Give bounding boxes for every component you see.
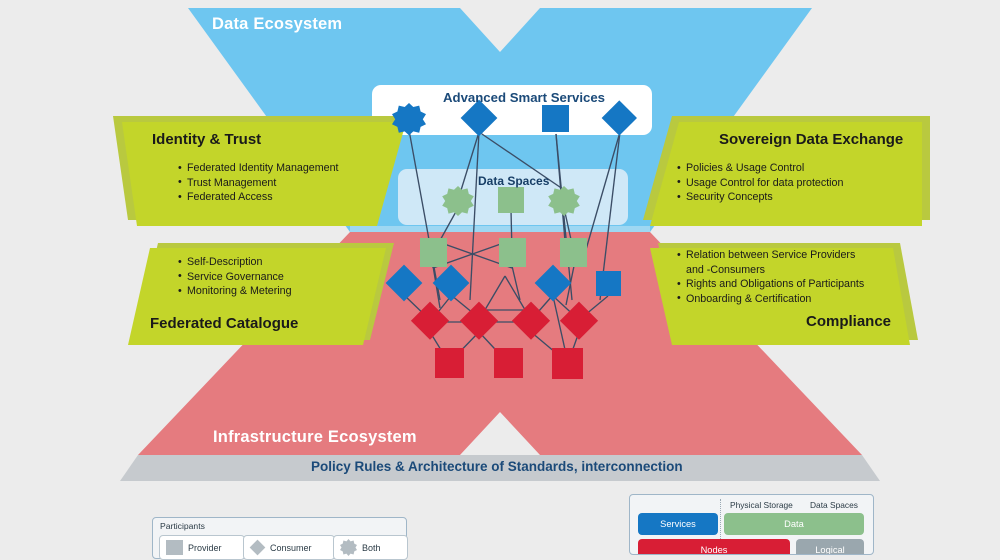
both-star-icon [340,539,357,556]
node-infra-diamond-2[interactable] [433,265,470,302]
panel-item: Trust Management [178,176,339,191]
panel-item: Service Governance [178,270,292,285]
legend-participants-caption: Participants [160,521,205,531]
panel-list-identity-trust: Federated Identity Management Trust Mana… [178,161,339,205]
panel-item: Federated Identity Management [178,161,339,176]
panel-item: Federated Access [178,190,339,205]
infrastructure-ecosystem-title: Infrastructure Ecosystem [213,428,417,447]
node-infra-diamond-1[interactable] [386,265,423,302]
legend-header-physical-storage: Physical Storage [730,500,793,510]
panel-title-sovereign-data-exchange: Sovereign Data Exchange [719,131,903,148]
legend-item-consumer[interactable]: Consumer [243,535,335,560]
network-edges [404,130,620,363]
node-service-diamond-2[interactable] [602,100,637,135]
panel-title-identity-trust: Identity & Trust [152,131,261,148]
panel-item: Monitoring & Metering [178,284,292,299]
legend-box-data[interactable]: Data [724,513,864,535]
panel-list-compliance: Relation between Service Providers and -… [677,248,864,306]
node-red-diamond-2[interactable] [460,302,498,340]
node-markers [386,100,637,379]
legend-item-both[interactable]: Both [333,535,408,560]
panel-item: Relation between Service Providers [677,248,864,263]
node-storage-square-3[interactable] [560,238,587,267]
legend-box-services[interactable]: Services [638,513,718,535]
gaia-x-architecture-diagram: Data Ecosystem Infrastructure Ecosystem … [0,0,1000,553]
legend-categories: Physical Storage Data Spaces Services Da… [629,494,874,555]
panel-title-federated-catalogue: Federated Catalogue [150,315,298,332]
panel-list-federated-catalogue: Self-Description Service Governance Moni… [178,255,292,299]
node-red-square-3[interactable] [552,348,583,379]
ecosystem-divider-strip [350,226,650,234]
panel-title-compliance: Compliance [806,313,891,330]
foundation-label: Policy Rules & Architecture of Standards… [311,459,683,474]
node-storage-square-1[interactable] [420,238,447,267]
node-red-diamond-3[interactable] [512,302,550,340]
advanced-smart-services-title: Advanced Smart Services [443,90,605,105]
node-dataspace-square-1[interactable] [498,187,524,213]
panel-item: and -Consumers [677,263,864,278]
panel-item: Onboarding & Certification [677,292,864,307]
legend-header-data-spaces: Data Spaces [810,500,858,510]
node-dataspace-star-2[interactable] [548,186,580,216]
panel-item: Policies & Usage Control [677,161,843,176]
legend-item-label: Consumer [270,543,312,553]
node-storage-square-2[interactable] [499,238,526,267]
node-red-square-2[interactable] [494,348,523,378]
node-service-diamond-1[interactable] [461,100,498,137]
node-red-diamond-4[interactable] [560,302,598,340]
node-dataspace-star-1[interactable] [442,186,474,216]
node-red-square-1[interactable] [435,348,464,378]
panel-item: Self-Description [178,255,292,270]
data-spaces-title: Data Spaces [478,174,549,188]
node-red-diamond-1[interactable] [411,302,449,340]
legend-item-provider[interactable]: Provider [159,535,245,560]
legend-item-label: Both [362,543,381,553]
node-service-star-1[interactable] [392,103,426,135]
panel-item: Rights and Obligations of Participants [677,277,864,292]
legend-item-label: Provider [188,543,222,553]
node-service-square-1[interactable] [542,105,569,132]
panel-list-sovereign-data-exchange: Policies & Usage Control Usage Control f… [677,161,843,205]
node-infra-diamond-3[interactable] [535,265,572,302]
panel-item: Security Concepts [677,190,843,205]
node-infra-square-1[interactable] [596,271,621,296]
data-ecosystem-title: Data Ecosystem [212,15,342,34]
panel-item: Usage Control for data protection [677,176,843,191]
